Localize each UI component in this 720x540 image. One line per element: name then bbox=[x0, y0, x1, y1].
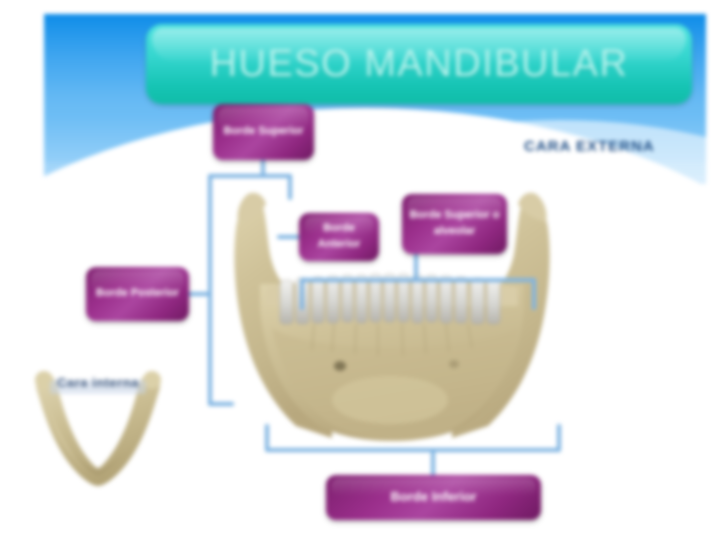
caption-cara-externa: CARA EXTERNA bbox=[524, 138, 655, 155]
connector-alveolar-crossbar bbox=[300, 278, 536, 282]
slide-blur-layer: HUESO MANDIBULAR CARA EXTERNA bbox=[0, 0, 720, 540]
label-borde-posterior-text: Borde Posterior bbox=[96, 286, 179, 302]
connector-borde-inferior-crossbar bbox=[265, 448, 561, 452]
connector-borde-inferior-stem bbox=[431, 448, 435, 478]
connector-borde-superior-right-arm bbox=[288, 174, 292, 200]
connector-borde-posterior-vertical bbox=[208, 174, 212, 406]
connector-borde-posterior-bottom-arm bbox=[208, 402, 234, 406]
connector-alveolar-right-arm bbox=[532, 278, 536, 310]
label-borde-inferior[interactable]: Borde Inferior bbox=[326, 475, 541, 520]
caption-cara-interna: Cara interna bbox=[57, 375, 139, 390]
mandible-main-figure bbox=[222, 188, 562, 453]
connector-borde-posterior-stem bbox=[186, 292, 210, 296]
label-borde-superior[interactable]: Borde Superior bbox=[213, 104, 314, 160]
label-borde-anterior-text: Borde Anterior bbox=[305, 221, 373, 253]
label-borde-superior-alveolar-text: Borde Superior o alveolar bbox=[408, 208, 501, 240]
page-title: HUESO MANDIBULAR bbox=[146, 24, 692, 104]
slide-canvas: HUESO MANDIBULAR CARA EXTERNA bbox=[0, 0, 720, 540]
connector-alveolar-stem bbox=[414, 252, 418, 280]
connector-borde-superior-crossbar bbox=[208, 174, 292, 178]
label-borde-superior-text: Borde Superior bbox=[223, 124, 303, 140]
connector-borde-anterior-stem bbox=[277, 235, 301, 239]
connector-borde-inferior-right-arm bbox=[557, 424, 561, 450]
connector-alveolar-left-arm bbox=[300, 278, 304, 310]
label-borde-posterior[interactable]: Borde Posterior bbox=[86, 267, 189, 321]
label-borde-inferior-text: Borde Inferior bbox=[391, 488, 477, 507]
title-plate: HUESO MANDIBULAR bbox=[146, 24, 692, 104]
connector-borde-inferior-left-arm bbox=[265, 424, 269, 450]
label-borde-anterior[interactable]: Borde Anterior bbox=[299, 213, 379, 261]
label-borde-superior-alveolar[interactable]: Borde Superior o alveolar bbox=[402, 194, 507, 254]
